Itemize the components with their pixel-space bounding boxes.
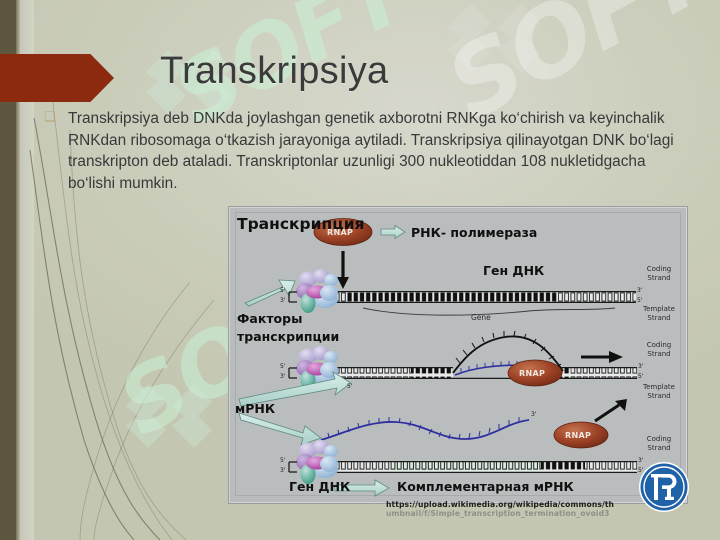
coding-strand-label-1: Coding Strand <box>633 265 685 282</box>
mrna-label: мРНК <box>235 401 275 416</box>
bullet-marker: ❑ <box>44 110 56 125</box>
rna-polymerase-arrow <box>381 226 405 239</box>
complementary-mrna-label: Комплементарная мРНК <box>397 479 574 494</box>
rnap-label-middle: RNAP <box>519 369 545 378</box>
factors-label-line2: транскрипции <box>237 329 339 344</box>
three-prime-l1: 3' <box>280 297 285 304</box>
transcription-diagram-graphics <box>229 207 687 503</box>
factors-label-line1: Факторы <box>237 311 302 326</box>
template-strand-label-1: Template Strand <box>633 305 685 322</box>
three-prime-l4: 3' <box>280 467 285 474</box>
coding-strand-label-2: Coding Strand <box>633 341 685 358</box>
soft-logo-mark-topright <box>428 0 558 110</box>
soft-logo-mark-bottom <box>108 372 228 482</box>
body-paragraph: Transkripsiya deb DNKda joylashgan genet… <box>68 108 688 194</box>
three-prime-l2: 3' <box>280 373 285 380</box>
slide: SOFT SOFT SOFT Transkripsiya ❑ Trans <box>0 0 720 540</box>
five-prime-l2: 5' <box>280 363 285 370</box>
watermark-top-right: SOFT <box>440 0 714 84</box>
three-prime-r1: 3' <box>637 287 642 294</box>
five-prime-l1: 5' <box>280 287 285 294</box>
template-strand-label-2: Template Strand <box>633 383 685 400</box>
gene-bracket-label: Gene <box>471 313 491 322</box>
page-title: Transkripsiya <box>160 50 388 93</box>
five-prime-l4: 5' <box>280 457 285 464</box>
gene-dna-label-bottom: Ген ДНК <box>289 479 350 494</box>
blue-r-emblem <box>638 461 690 513</box>
rnap-label-top: RNAP <box>327 228 353 237</box>
three-prime-mrna: 3' <box>531 411 536 418</box>
coding-strand-label-3: Coding Strand <box>633 435 685 452</box>
rna-polymerase-label: РНК- полимераза <box>411 225 537 240</box>
five-prime-r1: 5' <box>637 297 642 304</box>
transcription-diagram-panel: Транскрипция RNAP РНК- полимераза Ген ДН… <box>228 206 688 504</box>
rnap-label-released: RNAP <box>565 431 591 440</box>
title-banner-arrow <box>0 54 114 102</box>
three-prime-r2: 3' <box>638 363 643 370</box>
gene-dna-label-top: Ген ДНК <box>483 263 544 278</box>
five-prime-r2: 5' <box>638 373 643 380</box>
five-prime-nascent: 5' <box>347 383 352 390</box>
